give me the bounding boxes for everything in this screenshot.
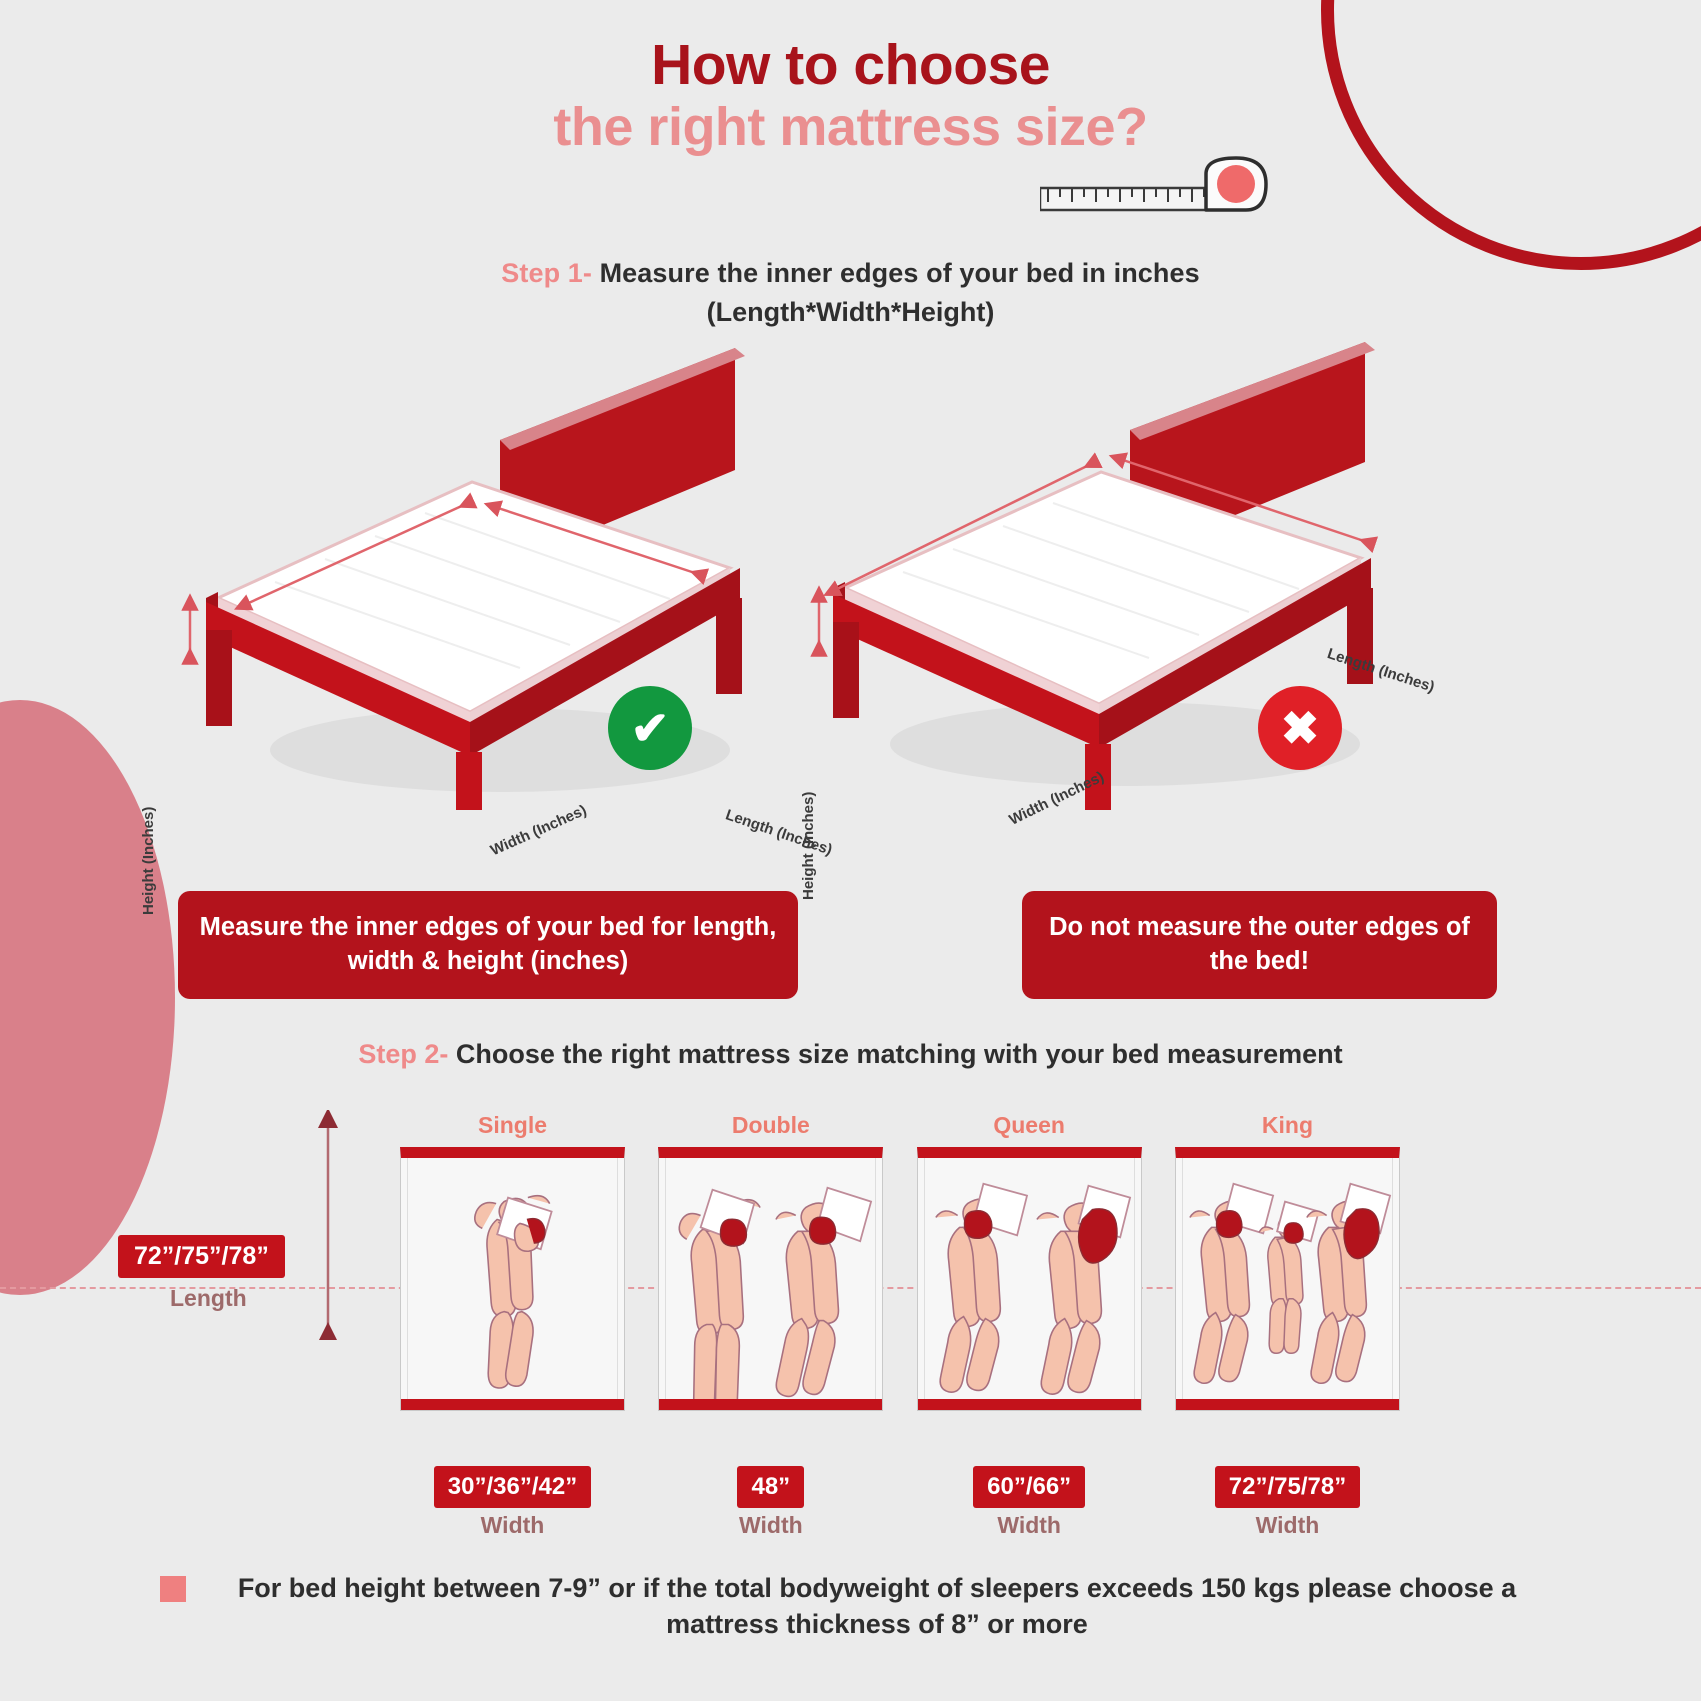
width-value-king: 72”/75/78” (1215, 1466, 1360, 1508)
bed-card-queen (917, 1147, 1142, 1411)
callout-correct: Measure the inner edges of your bed for … (178, 891, 798, 999)
size-column-double[interactable]: Double (658, 1112, 883, 1452)
size-column-queen[interactable]: Queen (917, 1112, 1142, 1452)
pink-swatch-icon (160, 1576, 186, 1602)
width-labels-row: 30”/36”/42” Width 48” Width 60”/66” Widt… (400, 1466, 1400, 1539)
width-label-king: Width (1175, 1512, 1400, 1539)
sleeper-figures-double (659, 1158, 882, 1409)
measuring-tape-icon (1040, 152, 1290, 224)
width-label-double: Width (658, 1512, 883, 1539)
callout-incorrect: Do not measure the outer edges of the be… (1022, 891, 1497, 999)
mattress-size-columns: Single (400, 1112, 1400, 1452)
width-cell-double: 48” Width (658, 1466, 883, 1539)
bed-footboard (659, 1399, 882, 1410)
width-value-double: 48” (737, 1466, 804, 1508)
bed-card-king (1175, 1147, 1400, 1411)
width-cell-single: 30”/36”/42” Width (400, 1466, 625, 1539)
label-height-incorrect: Height (Inches) (800, 792, 817, 900)
width-value-queen: 60”/66” (973, 1466, 1085, 1508)
step1-tag: Step 1- (501, 258, 592, 288)
cross-icon: ✖ (1258, 686, 1342, 770)
bed-illustrations: Width (Inches) Length (Inches) Height (I… (0, 320, 1701, 810)
bed-illustration-correct (170, 330, 790, 810)
sleeper-figures-single (401, 1158, 624, 1409)
size-header-queen: Queen (917, 1112, 1142, 1139)
size-column-single[interactable]: Single (400, 1112, 625, 1452)
title-line-2: the right mattress size? (553, 96, 1147, 158)
label-height-correct: Height (Inches) (140, 807, 157, 915)
width-value-single: 30”/36”/42” (434, 1466, 591, 1508)
length-arrow-icon (316, 1110, 340, 1340)
bed-footboard (1176, 1399, 1399, 1410)
size-header-king: King (1175, 1112, 1400, 1139)
width-label-queen: Width (917, 1512, 1142, 1539)
label-width-correct: Width (Inches) (488, 802, 589, 860)
sleeper-figures-king (1176, 1158, 1399, 1409)
step2-text: Choose the right mattress size matching … (456, 1039, 1343, 1069)
page-title: How to choose the right mattress size? (0, 36, 1701, 158)
footnote: For bed height between 7-9” or if the to… (160, 1570, 1550, 1643)
step2-tag: Step 2- (358, 1039, 448, 1069)
label-length-correct: Length (Inches) (723, 806, 834, 858)
bed-footboard (918, 1399, 1141, 1410)
sleeper-figures-queen (918, 1158, 1141, 1409)
size-column-king[interactable]: King (1175, 1112, 1400, 1452)
size-header-single: Single (400, 1112, 625, 1139)
step2-heading: Step 2- Choose the right mattress size m… (0, 1039, 1701, 1070)
width-label-single: Width (400, 1512, 625, 1539)
bed-card-double (658, 1147, 883, 1411)
length-value: 72”/75”/78” (118, 1235, 285, 1278)
width-cell-queen: 60”/66” Width (917, 1466, 1142, 1539)
bed-card-single (400, 1147, 625, 1411)
width-cell-king: 72”/75/78” Width (1175, 1466, 1400, 1539)
title-line-1: How to choose (0, 36, 1701, 96)
step1-heading: Step 1- Measure the inner edges of your … (0, 258, 1701, 289)
bed-footboard (401, 1399, 624, 1410)
length-label: Length (170, 1285, 247, 1312)
check-icon: ✔ (608, 686, 692, 770)
step1-text-line1: Measure the inner edges of your bed in i… (600, 258, 1200, 288)
infographic-canvas: How to choose the right mattress size? S… (0, 0, 1701, 1701)
footnote-text: For bed height between 7-9” or if the to… (204, 1570, 1550, 1643)
size-header-double: Double (658, 1112, 883, 1139)
